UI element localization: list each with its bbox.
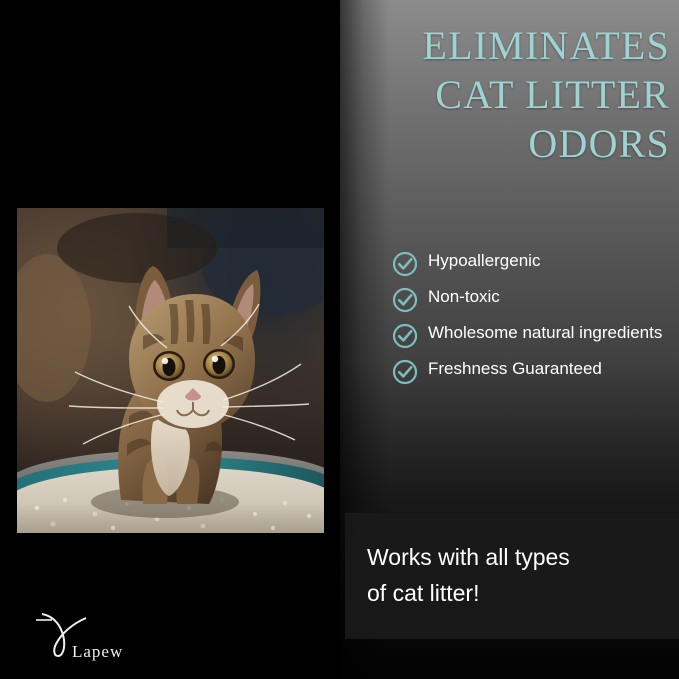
check-circle-icon — [392, 287, 418, 313]
feature-item: Wholesome natural ingredients — [392, 322, 674, 349]
brand-name: Lapew — [72, 642, 123, 662]
caption-text: Works with all types of cat litter! — [345, 540, 592, 611]
feature-label: Non-toxic — [428, 286, 500, 308]
headline: ELIMINATES CAT LITTER ODORS — [345, 22, 670, 168]
headline-line-3: ODORS — [345, 120, 670, 169]
feature-item: Freshness Guaranteed — [392, 358, 674, 385]
ad-creative: ELIMINATES CAT LITTER ODORS Hypoallergen… — [0, 0, 679, 679]
caption-line-2: of cat litter! — [367, 576, 570, 612]
feature-label: Hypoallergenic — [428, 250, 540, 272]
caption-line-1: Works with all types — [367, 540, 570, 576]
check-circle-icon — [392, 323, 418, 349]
headline-line-1: ELIMINATES — [345, 22, 670, 71]
brand-logo: Lapew — [32, 606, 162, 664]
cat-photo — [17, 208, 324, 533]
feature-item: Non-toxic — [392, 286, 674, 313]
feature-list: Hypoallergenic Non-toxic Wholesome natur… — [392, 250, 674, 394]
feature-label: Wholesome natural ingredients — [428, 322, 662, 344]
caption-box: Works with all types of cat litter! — [345, 513, 679, 639]
check-circle-icon — [392, 359, 418, 385]
check-circle-icon — [392, 251, 418, 277]
feature-label: Freshness Guaranteed — [428, 358, 602, 380]
feature-item: Hypoallergenic — [392, 250, 674, 277]
headline-line-2: CAT LITTER — [345, 71, 670, 120]
